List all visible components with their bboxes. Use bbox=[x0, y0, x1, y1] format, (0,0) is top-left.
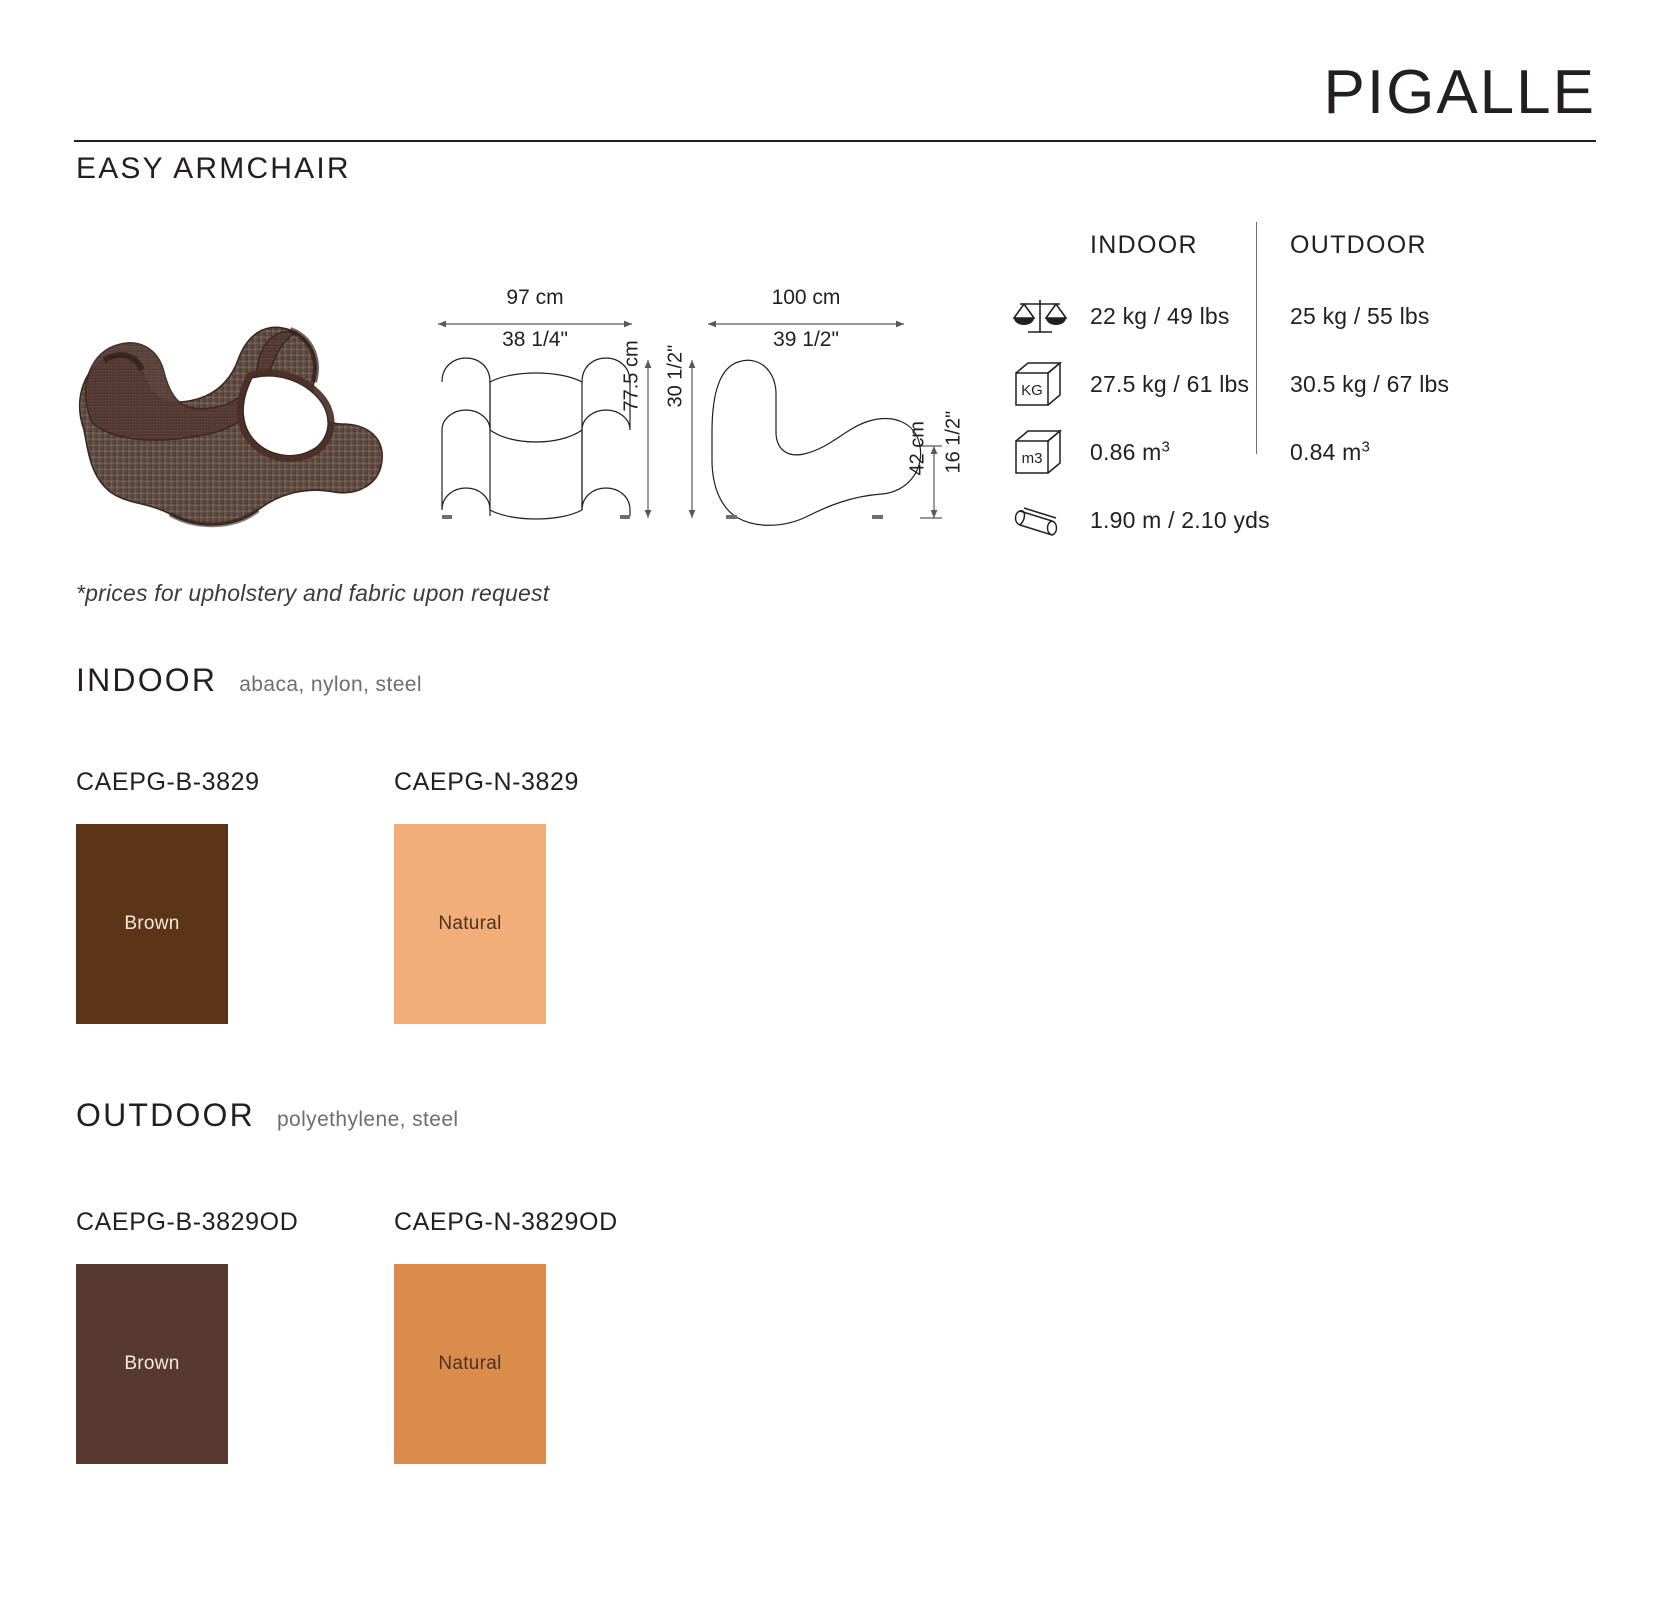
column-header-outdoor: OUTDOOR bbox=[1290, 231, 1427, 260]
section-title-indoor: INDOOR bbox=[76, 662, 217, 699]
spec-table: INDOOR OUTDOOR 22 kg / 49 lbs bbox=[1012, 214, 1612, 554]
header-divider bbox=[74, 140, 1596, 142]
section-title-outdoor: OUTDOOR bbox=[76, 1097, 255, 1134]
section-materials-outdoor: polyethylene, steel bbox=[277, 1108, 459, 1132]
column-header-indoor: INDOOR bbox=[1090, 231, 1290, 260]
gross-weight-outdoor: 30.5 kg / 67 lbs bbox=[1290, 371, 1449, 398]
table-row: 1.90 m / 2.10 yds bbox=[1012, 486, 1612, 554]
dimension-drawings bbox=[420, 282, 990, 542]
page-title: PIGALLE bbox=[1324, 62, 1596, 124]
page-subtitle: EASY ARMCHAIR bbox=[76, 152, 351, 186]
kg-box-icon: KG bbox=[1012, 356, 1090, 412]
swatch-item[interactable]: CAEPG-N-3829 Natural bbox=[394, 768, 712, 1024]
volume-indoor: 0.86 m3 bbox=[1090, 438, 1290, 466]
swatch-label: Brown bbox=[124, 913, 179, 935]
product-photo bbox=[62, 252, 402, 532]
color-swatch-brown-outdoor[interactable]: Brown bbox=[76, 1264, 228, 1464]
m3-box-icon: m3 bbox=[1012, 424, 1090, 480]
swatch-code: CAEPG-N-3829OD bbox=[394, 1208, 712, 1237]
section-heading-outdoor: OUTDOOR polyethylene, steel bbox=[76, 1097, 459, 1134]
gross-weight-indoor: 27.5 kg / 61 lbs bbox=[1090, 371, 1290, 398]
fabric-length-indoor: 1.90 m / 2.10 yds bbox=[1090, 507, 1510, 534]
fabric-roll-icon bbox=[1012, 492, 1090, 548]
swatch-label: Natural bbox=[438, 913, 501, 935]
table-row: m3 0.86 m3 0.84 m3 bbox=[1012, 418, 1612, 486]
spec-sheet-page: PIGALLE EASY ARMCHAIR bbox=[0, 0, 1654, 1597]
volume-outdoor: 0.84 m3 bbox=[1290, 438, 1370, 466]
svg-text:KG: KG bbox=[1021, 382, 1043, 399]
swatch-item[interactable]: CAEPG-B-3829OD Brown bbox=[76, 1208, 394, 1464]
net-weight-outdoor: 25 kg / 55 lbs bbox=[1290, 303, 1430, 330]
color-swatch-natural-outdoor[interactable]: Natural bbox=[394, 1264, 546, 1464]
swatch-code: CAEPG-B-3829 bbox=[76, 768, 394, 797]
spec-table-header: INDOOR OUTDOOR bbox=[1012, 214, 1612, 260]
section-materials-indoor: abaca, nylon, steel bbox=[239, 673, 422, 697]
swatch-code: CAEPG-N-3829 bbox=[394, 768, 712, 797]
color-swatch-brown-indoor[interactable]: Brown bbox=[76, 824, 228, 1024]
swatch-row-indoor: CAEPG-B-3829 Brown CAEPG-N-3829 Natural bbox=[76, 768, 712, 1024]
svg-text:m3: m3 bbox=[1022, 450, 1043, 467]
table-row: KG 27.5 kg / 61 lbs 30.5 kg / 67 lbs bbox=[1012, 350, 1612, 418]
price-note: *prices for upholstery and fabric upon r… bbox=[76, 580, 549, 607]
swatch-item[interactable]: CAEPG-B-3829 Brown bbox=[76, 768, 394, 1024]
swatch-label: Brown bbox=[124, 1353, 179, 1375]
swatch-row-outdoor: CAEPG-B-3829OD Brown CAEPG-N-3829OD Natu… bbox=[76, 1208, 712, 1464]
swatch-label: Natural bbox=[438, 1353, 501, 1375]
swatch-item[interactable]: CAEPG-N-3829OD Natural bbox=[394, 1208, 712, 1464]
balance-scale-icon bbox=[1012, 288, 1090, 344]
color-swatch-natural-indoor[interactable]: Natural bbox=[394, 824, 546, 1024]
net-weight-indoor: 22 kg / 49 lbs bbox=[1090, 303, 1290, 330]
section-heading-indoor: INDOOR abaca, nylon, steel bbox=[76, 662, 422, 699]
swatch-code: CAEPG-B-3829OD bbox=[76, 1208, 394, 1237]
table-row: 22 kg / 49 lbs 25 kg / 55 lbs bbox=[1012, 282, 1612, 350]
